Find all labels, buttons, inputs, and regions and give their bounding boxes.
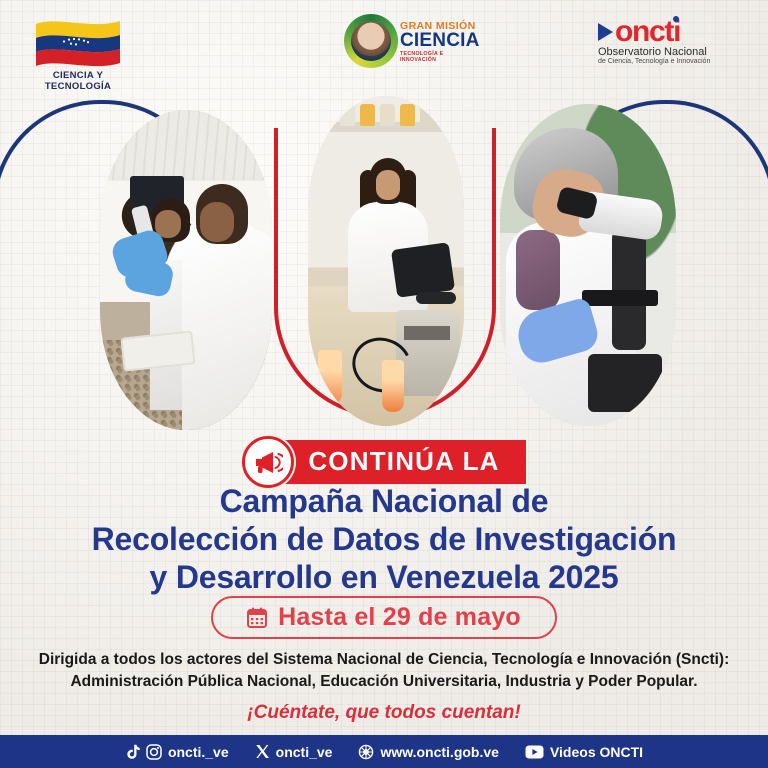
youtube-icon[interactable] <box>525 745 544 759</box>
audience-line1: Dirigida a todos los actores del Sistema… <box>0 649 768 671</box>
gran-mision-line3: TECNOLOGÍA E INNOVACIÓN <box>400 51 480 63</box>
footer-label-x[interactable]: oncti_ve <box>276 744 333 760</box>
researcher-at-lab-bench-photo <box>308 96 464 426</box>
flag-caption-line1: CIENCIA Y <box>53 70 103 81</box>
campaign-headline: Campaña Nacional de Recolección de Datos… <box>0 482 768 596</box>
campaign-poster: CIENCIA Y TECNOLOGÍA GRAN MISIÓN CIENCIA… <box>0 0 768 768</box>
continua-la-ribbon: CONTINÚA LA <box>0 436 768 488</box>
deadline-pill-wrap: Hasta el 29 de mayo <box>0 596 768 639</box>
oncti-wordmark: oncti <box>615 18 680 45</box>
megaphone-icon <box>253 449 283 475</box>
gran-mision-ciencia-logo: GRAN MISIÓN CIENCIA TECNOLOGÍA E INNOVAC… <box>344 12 474 74</box>
venezuela-flag-icon <box>30 16 126 68</box>
gran-mision-line2: CIENCIA <box>400 32 480 50</box>
audience-line2: Administración Pública Nacional, Educaci… <box>0 671 768 693</box>
deadline-label: Hasta el 29 de mayo <box>278 603 521 632</box>
oncti-arrow-icon <box>598 23 613 41</box>
oncti-wordmark-text: oncti <box>615 15 680 48</box>
gran-mision-emblem <box>344 14 398 68</box>
photo-collage <box>0 86 768 436</box>
footer-label-website[interactable]: www.oncti.gob.ve <box>380 744 499 760</box>
megaphone-badge <box>242 436 294 488</box>
footer-item-x[interactable]: oncti_ve <box>255 744 333 760</box>
calendar-icon <box>247 607 267 628</box>
oncti-subtitle-line2: de Ciencia, Tecnología e Innovación <box>598 58 748 65</box>
headline-line1: Campaña Nacional de <box>0 482 768 520</box>
campaign-slogan: ¡Cuéntate, que todos cuentan! <box>0 702 768 724</box>
ciencia-y-tecnologia-logo: CIENCIA Y TECNOLOGÍA <box>18 16 138 92</box>
footer-label-instagram-tiktok[interactable]: oncti._ve <box>168 744 229 760</box>
oncti-logo: oncti Observatorio Nacional de Ciencia, … <box>598 18 748 65</box>
x-twitter-icon[interactable] <box>255 744 270 759</box>
instagram-icon[interactable] <box>146 744 162 760</box>
footer-item-youtube[interactable]: Videos ONCTI <box>525 744 643 760</box>
gran-mision-wordmark: GRAN MISIÓN CIENCIA TECNOLOGÍA E INNOVAC… <box>400 20 480 63</box>
social-footer: oncti._ve oncti_ve www.oncti.gob.ve <box>0 735 768 768</box>
hugo-chavez-portrait-icon <box>351 21 391 61</box>
deadline-pill: Hasta el 29 de mayo <box>211 596 557 639</box>
lab-technicians-pipetting-photo <box>100 110 272 430</box>
globe-icon[interactable] <box>358 744 374 760</box>
headline-line2: Recolección de Datos de Investigación <box>0 520 768 558</box>
audience-description: Dirigida a todos los actores del Sistema… <box>0 649 768 694</box>
footer-item-website[interactable]: www.oncti.gob.ve <box>358 744 499 760</box>
footer-item-instagram-tiktok[interactable]: oncti._ve <box>125 744 229 760</box>
footer-label-youtube[interactable]: Videos ONCTI <box>550 744 643 760</box>
headline-line3: y Desarrollo en Venezuela 2025 <box>0 558 768 596</box>
ribbon-label: CONTINÚA LA <box>266 440 525 484</box>
tiktok-icon[interactable] <box>125 744 140 760</box>
scientist-using-microscope-photo <box>500 104 676 426</box>
header-logos: CIENCIA Y TECNOLOGÍA GRAN MISIÓN CIENCIA… <box>0 0 768 88</box>
